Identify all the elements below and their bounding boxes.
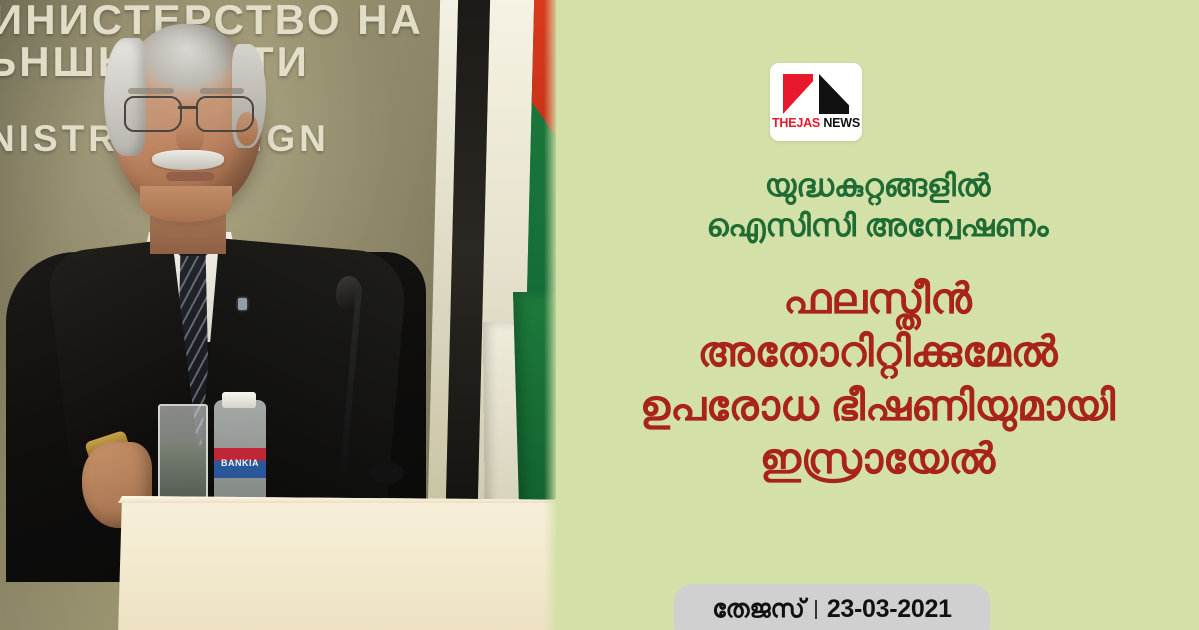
logo-word-news: NEWS [820,116,860,130]
eyebrow-right [200,88,244,94]
kicker-line-2: ഐസിസി അന്വേഷണം [556,206,1199,246]
mustache [152,150,224,170]
content-panel: THEJAS NEWS യുദ്ധകുറ്റങ്ങളിൽ ഐസിസി അന്വേ… [556,0,1199,630]
eyebrow-left [128,88,174,94]
lens-right [196,96,254,132]
footer-separator [815,600,817,619]
news-photo: ИНИСТЕРСТВО НА ЬНШН АБОТИ NISTRY OREIGN [0,0,556,630]
bottle-label: BANKIA [214,448,266,478]
lens-left [124,96,182,132]
kicker-text: യുദ്ധകുറ്റങ്ങളിൽ ഐസിസി അന്വേഷണം [556,166,1199,247]
microphone-base [370,462,404,484]
news-card: ИНИСТЕРСТВО НА ЬНШН АБОТИ NISTRY OREIGN [0,0,1199,630]
logo-triangles-icon [783,74,849,114]
headline-line-3: ഉപരോധ ഭീഷണിയുമായി [556,379,1199,432]
mouth [166,172,214,181]
logo-red-triangle-icon [783,74,813,114]
headline-line-4: ഇസ്രായേൽ [556,432,1199,485]
headline-line-1: ഫലസ്തീൻ [556,272,1199,325]
logo-black-triangle-icon [819,74,849,114]
logo-word-thejas: THEJAS [772,116,820,130]
photo-edge-fade [544,0,556,630]
footer-brand-label: തേജസ് [712,597,805,630]
footer-badge: തേജസ് 23-03-2021 [674,584,990,630]
logo-wordmark: THEJAS NEWS [770,116,862,130]
footer-date-label: 23-03-2021 [827,597,952,630]
kicker-line-1: യുദ്ധകുറ്റങ്ങളിൽ [556,166,1199,206]
bottle-cap [222,392,256,408]
podium [118,496,556,630]
thejas-news-logo[interactable]: THEJAS NEWS [770,63,862,141]
palestine-flag [428,0,556,512]
headline-line-2: അതോറിറ്റിക്കുമേൽ [556,325,1199,378]
glasses-bridge [178,106,196,109]
chin [140,186,232,222]
lapel-pin [238,298,247,310]
headline-text: ഫലസ്തീൻ അതോറിറ്റിക്കുമേൽ ഉപരോധ ഭീഷണിയുമാ… [556,272,1199,485]
water-glass [158,404,208,508]
